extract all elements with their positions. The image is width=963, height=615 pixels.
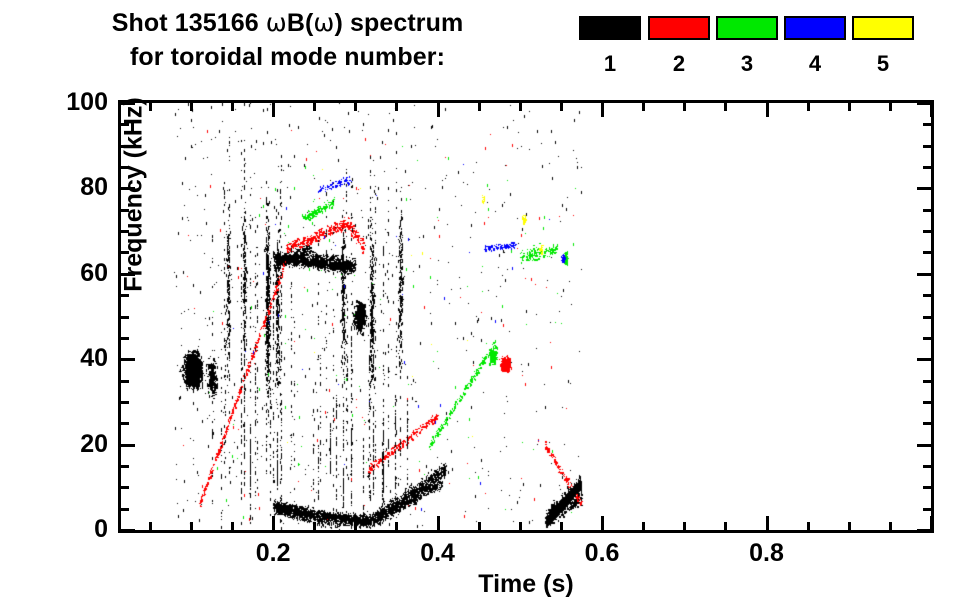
y-tick-minor-right-50 (923, 316, 931, 319)
omega-symbol-1: ω (266, 8, 287, 37)
x-tick-major-top-0.2 (272, 103, 275, 117)
y-tick-minor-right-90 (923, 145, 931, 148)
x-tick-minor-top-0.7 (683, 103, 686, 111)
x-tick-minor-top-0.25 (313, 103, 316, 111)
y-tick-minor-right-30 (923, 401, 931, 404)
x-tick-minor-0.95 (889, 522, 892, 530)
x-tick-minor-top-0.3 (354, 103, 357, 111)
y-axis-label: Frequency (kHz) (120, 55, 149, 335)
y-tick-minor-25 (121, 422, 129, 425)
x-tick-minor-0.85 (807, 522, 810, 530)
y-tick-minor-right-65 (923, 251, 931, 254)
x-tick-minor-0.75 (724, 522, 727, 530)
y-tick-major-20 (121, 444, 135, 447)
title-line-2: for toroidal mode number: (0, 40, 575, 74)
legend-entry-n1: 1 (579, 16, 641, 75)
x-tick-label-0.4: 0.4 (398, 541, 478, 566)
x-tick-minor-top-0.95 (889, 103, 892, 111)
x-tick-minor-top-0.05 (149, 103, 152, 111)
legend-entry-n4: 4 (784, 16, 846, 75)
x-tick-minor-top-0.35 (395, 103, 398, 111)
x-tick-major-top-0.4 (437, 103, 440, 117)
y-tick-label-60: 60 (80, 261, 108, 286)
x-tick-minor-0.45 (478, 522, 481, 530)
y-tick-label-20: 20 (80, 432, 108, 457)
x-tick-major-top-0.8 (766, 103, 769, 117)
y-tick-minor-right-15 (923, 465, 931, 468)
y-tick-major-0 (121, 529, 135, 532)
x-tick-label-0.2: 0.2 (233, 541, 313, 566)
spectrogram-canvas (121, 103, 931, 530)
y-tick-major-right-20 (917, 444, 931, 447)
y-tick-label-40: 40 (80, 346, 108, 371)
y-tick-minor-5 (121, 508, 129, 511)
x-tick-minor-top-0.5 (519, 103, 522, 111)
title-b-open: B( (287, 9, 314, 37)
y-tick-minor-right-70 (923, 230, 931, 233)
legend-swatch-n3 (716, 16, 778, 40)
x-tick-minor-0.65 (642, 522, 645, 530)
x-tick-minor-0.1 (190, 522, 193, 530)
y-tick-minor-right-95 (923, 123, 931, 126)
y-tick-minor-right-25 (923, 422, 931, 425)
omega-symbol-2: ω (313, 8, 334, 37)
y-tick-label-100: 100 (66, 90, 108, 115)
y-tick-minor-45 (121, 337, 129, 340)
legend-entry-n5: 5 (852, 16, 914, 75)
x-tick-minor-0.15 (231, 522, 234, 530)
y-tick-minor-right-10 (923, 486, 931, 489)
y-tick-major-right-100 (917, 102, 931, 105)
legend-label-n3: 3 (716, 53, 778, 75)
legend-label-n4: 4 (784, 53, 846, 75)
x-tick-major-top-0.6 (601, 103, 604, 117)
y-tick-minor-right-75 (923, 209, 931, 212)
x-tick-minor-0.3 (354, 522, 357, 530)
x-tick-label-0.6: 0.6 (562, 541, 642, 566)
y-tick-major-right-80 (917, 187, 931, 190)
y-tick-minor-right-85 (923, 166, 931, 169)
title-spectrum-text: ) spectrum (334, 9, 463, 37)
y-tick-minor-35 (121, 380, 129, 383)
x-tick-minor-top-0.15 (231, 103, 234, 111)
legend-label-n5: 5 (852, 53, 914, 75)
y-tick-label-80: 80 (80, 175, 108, 200)
y-tick-label-0: 0 (94, 517, 108, 542)
legend-label-n2: 2 (648, 53, 710, 75)
x-tick-minor-top-0.1 (190, 103, 193, 111)
y-tick-major-40 (121, 358, 135, 361)
legend-swatch-n1 (579, 16, 641, 40)
x-tick-major-top-1 (930, 103, 933, 117)
y-tick-minor-15 (121, 465, 129, 468)
y-tick-major-right-60 (917, 273, 931, 276)
x-tick-major-0.6 (601, 516, 604, 530)
y-tick-minor-right-35 (923, 380, 931, 383)
x-tick-minor-0.55 (560, 522, 563, 530)
x-tick-minor-0.05 (149, 522, 152, 530)
x-axis-label: Time (s) (118, 570, 934, 599)
spectrogram-figure: Shot 135166 ωB(ω) spectrum for toroidal … (0, 0, 963, 615)
x-tick-minor-top-0.55 (560, 103, 563, 111)
x-tick-minor-top-0.65 (642, 103, 645, 111)
x-tick-minor-0.7 (683, 522, 686, 530)
y-tick-minor-right-45 (923, 337, 931, 340)
title-shot-text: Shot 135166 (112, 9, 266, 37)
x-tick-minor-top-0.75 (724, 103, 727, 111)
legend-swatch-n4 (784, 16, 846, 40)
y-tick-minor-right-55 (923, 294, 931, 297)
x-tick-minor-0.9 (848, 522, 851, 530)
x-tick-label-0.8: 0.8 (727, 541, 807, 566)
legend-entry-n3: 3 (716, 16, 778, 75)
x-tick-minor-0.35 (395, 522, 398, 530)
y-tick-minor-right-5 (923, 508, 931, 511)
x-tick-minor-0.25 (313, 522, 316, 530)
x-tick-minor-top-0.45 (478, 103, 481, 111)
x-tick-major-0.8 (766, 516, 769, 530)
figure-title: Shot 135166 ωB(ω) spectrum for toroidal … (0, 6, 575, 74)
legend-entry-n2: 2 (648, 16, 710, 75)
y-tick-minor-30 (121, 401, 129, 404)
y-tick-minor-10 (121, 486, 129, 489)
x-tick-major-0.2 (272, 516, 275, 530)
x-tick-minor-0.5 (519, 522, 522, 530)
x-tick-minor-top-0.85 (807, 103, 810, 111)
x-tick-major-0.4 (437, 516, 440, 530)
x-tick-minor-top-0.9 (848, 103, 851, 111)
title-line-1: Shot 135166 ωB(ω) spectrum (0, 6, 575, 40)
legend-label-n1: 1 (579, 53, 641, 75)
x-tick-major-1 (930, 516, 933, 530)
y-tick-major-right-0 (917, 529, 931, 532)
legend-swatch-n2 (648, 16, 710, 40)
mode-number-legend: 12345 (575, 0, 963, 92)
legend-swatch-n5 (852, 16, 914, 40)
plot-frame (118, 100, 934, 533)
y-tick-major-right-40 (917, 358, 931, 361)
